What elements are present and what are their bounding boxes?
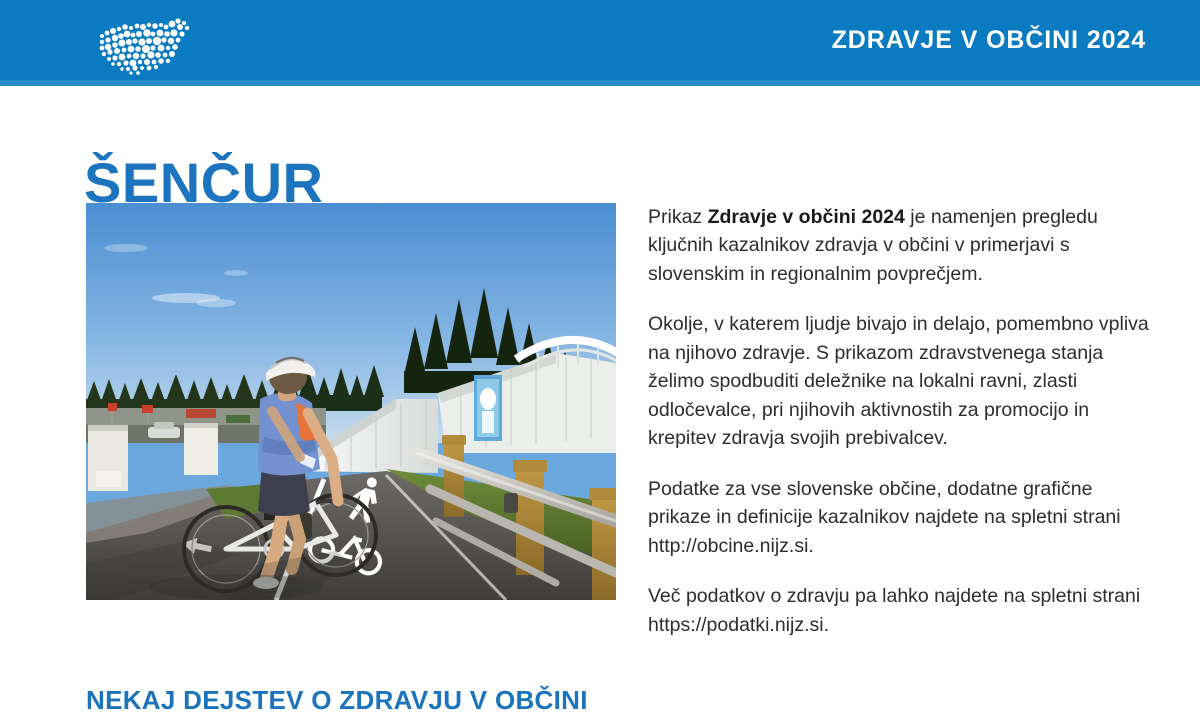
paragraph-data-municipalities: Podatke za vse slovenske občine, dodatne… bbox=[648, 475, 1150, 560]
slovenia-dot-map-logo bbox=[92, 16, 196, 78]
section-heading-facts: NEKAJ DEJSTEV O ZDRAVJU V OBČINI bbox=[86, 685, 588, 716]
header-underline bbox=[0, 80, 1200, 86]
header-title: ZDRAVJE V OBČINI 2024 bbox=[832, 0, 1146, 80]
paragraph-more-data: Več podatkov o zdravju pa lahko najdete … bbox=[648, 582, 1150, 639]
municipality-photo bbox=[86, 203, 616, 600]
intro-before: Prikaz bbox=[648, 206, 708, 228]
intro-text-column: Prikaz Zdravje v občini 2024 je namenjen… bbox=[648, 203, 1150, 639]
page-header: ZDRAVJE V OBČINI 2024 bbox=[0, 0, 1200, 80]
paragraph-environment: Okolje, v katerem ljudje bivajo in delaj… bbox=[648, 310, 1150, 452]
intro-bold: Zdravje v občini 2024 bbox=[708, 206, 905, 228]
paragraph-intro: Prikaz Zdravje v občini 2024 je namenjen… bbox=[648, 203, 1150, 288]
